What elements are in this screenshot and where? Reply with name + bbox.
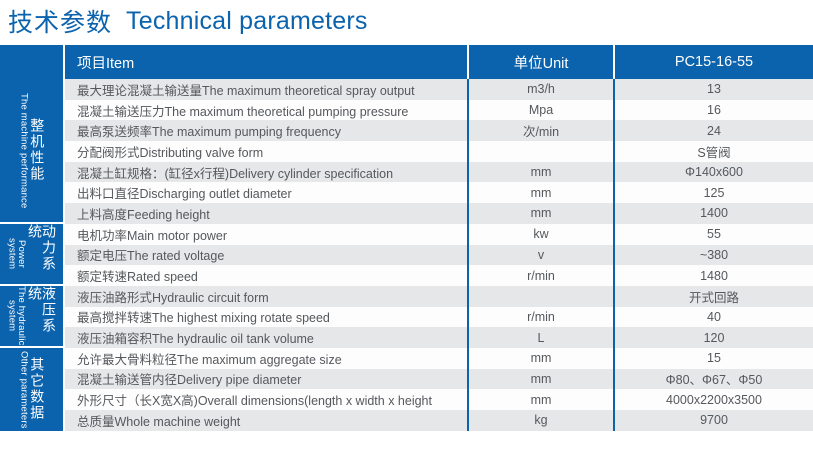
cell-value: 24 [615, 120, 813, 141]
table-row: 允许最大骨料粒径The maximum aggregate sizemm15 [65, 348, 813, 369]
table-row: 最高搅拌转速The highest mixing rotate speedr/m… [65, 307, 813, 328]
group-label-cn: 整机性能 [30, 118, 44, 182]
cell-value: 16 [615, 100, 813, 121]
cell-unit [469, 141, 615, 162]
cell-unit: L [469, 327, 615, 348]
cell-value: 1480 [615, 265, 813, 286]
group-label-cn: 动力系统 [28, 224, 56, 284]
cell-item: 总质量Whole machine weight [65, 410, 469, 431]
cell-value: 9700 [615, 410, 813, 431]
cell-unit: mm [469, 389, 615, 410]
cell-unit: r/min [469, 307, 615, 328]
column-header-model: PC15-16-55 [615, 45, 813, 79]
cell-unit: r/min [469, 265, 615, 286]
cell-value: 13 [615, 79, 813, 100]
cell-unit: mm [469, 348, 615, 369]
group-label-en: The machine performance [19, 93, 29, 209]
cell-item: 最高泵送频率The maximum pumping frequency [65, 120, 469, 141]
cell-item: 液压油箱容积The hydraulic oil tank volume [65, 327, 469, 348]
table-row: 混凝土输送压力The maximum theoretical pumping p… [65, 100, 813, 121]
table-row: 总质量Whole machine weightkg9700 [65, 410, 813, 431]
cell-value: 4000x2200x3500 [615, 389, 813, 410]
cell-item: 混凝土输送压力The maximum theoretical pumping p… [65, 100, 469, 121]
cell-item: 额定电压The rated voltage [65, 245, 469, 266]
column-header-item: 项目Item [65, 45, 469, 79]
cell-unit: mm [469, 162, 615, 183]
cell-value: 125 [615, 182, 813, 203]
cell-value: 40 [615, 307, 813, 328]
cell-unit: mm [469, 203, 615, 224]
cell-value: S管阀 [615, 141, 813, 162]
table-rows: 最大理论混凝土输送量The maximum theoretical spray … [65, 79, 813, 452]
group-block: 整机性能The machine performance [0, 79, 63, 222]
table-row: 出料口直径Discharging outlet diametermm125 [65, 182, 813, 203]
cell-unit: 次/min [469, 120, 615, 141]
cell-item: 电机功率Main motor power [65, 224, 469, 245]
cell-value: Φ80、Φ67、Φ50 [615, 369, 813, 390]
cell-item: 最高搅拌转速The highest mixing rotate speed [65, 307, 469, 328]
cell-item: 混凝土缸规格：(缸径x行程)Delivery cylinder specific… [65, 162, 469, 183]
table-row: 最大理论混凝土输送量The maximum theoretical spray … [65, 79, 813, 100]
cell-item: 液压油路形式Hydraulic circuit form [65, 286, 469, 307]
cell-value: 55 [615, 224, 813, 245]
table-row: 液压油箱容积The hydraulic oil tank volumeL120 [65, 327, 813, 348]
table-body: 整机性能The machine performance动力系统Power sys… [0, 79, 813, 452]
table-row: 上料高度Feeding heightmm1400 [65, 203, 813, 224]
cell-value: 15 [615, 348, 813, 369]
table-header-corner [0, 45, 63, 79]
cell-unit: m3/h [469, 79, 615, 100]
cell-item: 额定转速Rated speed [65, 265, 469, 286]
cell-unit [469, 286, 615, 307]
cell-value: ~380 [615, 245, 813, 266]
table-row: 混凝土输送管内径Delivery pipe diametermmΦ80、Φ67、… [65, 369, 813, 390]
cell-unit: v [469, 245, 615, 266]
table-row: 外形尺寸（长X宽X高)Overall dimensions(length x w… [65, 389, 813, 410]
cell-unit: mm [469, 369, 615, 390]
group-sidebar: 整机性能The machine performance动力系统Power sys… [0, 79, 63, 452]
group-block: 其它数据Other parameters [0, 348, 63, 431]
cell-unit: Mpa [469, 100, 615, 121]
cell-unit: mm [469, 182, 615, 203]
cell-value: 开式回路 [615, 286, 813, 307]
cell-item: 允许最大骨料粒径The maximum aggregate size [65, 348, 469, 369]
group-block: 液压系统The hydraulic system [0, 286, 63, 346]
table-row: 最高泵送频率The maximum pumping frequency次/min… [65, 120, 813, 141]
technical-parameters-table: 项目Item 单位Unit PC15-16-55 整机性能The machine… [0, 45, 813, 455]
page-title-cn: 技术参数 [8, 3, 112, 39]
table-row: 液压油路形式Hydraulic circuit form开式回路 [65, 286, 813, 307]
table-header-row: 项目Item 单位Unit PC15-16-55 [0, 45, 813, 79]
page-title: 技术参数 Technical parameters [0, 0, 813, 42]
cell-value: 1400 [615, 203, 813, 224]
page-title-en: Technical parameters [126, 7, 368, 36]
group-label-en: Power system [7, 224, 26, 284]
cell-unit: kg [469, 410, 615, 431]
table-row: 混凝土缸规格：(缸径x行程)Delivery cylinder specific… [65, 162, 813, 183]
table-row: 额定转速Rated speedr/min1480 [65, 265, 813, 286]
cell-value: Φ140x600 [615, 162, 813, 183]
group-label-en: The hydraulic system [7, 286, 26, 346]
cell-item: 上料高度Feeding height [65, 203, 469, 224]
table-row: 电机功率Main motor powerkw55 [65, 224, 813, 245]
cell-item: 出料口直径Discharging outlet diameter [65, 182, 469, 203]
cell-value: 120 [615, 327, 813, 348]
cell-item: 分配阀形式Distributing valve form [65, 141, 469, 162]
group-label-en: Other parameters [19, 351, 29, 429]
group-label-cn: 液压系统 [28, 286, 56, 346]
table-row: 额定电压The rated voltagev~380 [65, 245, 813, 266]
column-header-unit: 单位Unit [469, 45, 615, 79]
cell-unit: kw [469, 224, 615, 245]
cell-item: 最大理论混凝土输送量The maximum theoretical spray … [65, 79, 469, 100]
group-block: 动力系统Power system [0, 224, 63, 284]
cell-item: 外形尺寸（长X宽X高)Overall dimensions(length x w… [65, 389, 469, 410]
group-label-cn: 其它数据 [30, 357, 44, 421]
table-row: 分配阀形式Distributing valve formS管阀 [65, 141, 813, 162]
cell-item: 混凝土输送管内径Delivery pipe diameter [65, 369, 469, 390]
